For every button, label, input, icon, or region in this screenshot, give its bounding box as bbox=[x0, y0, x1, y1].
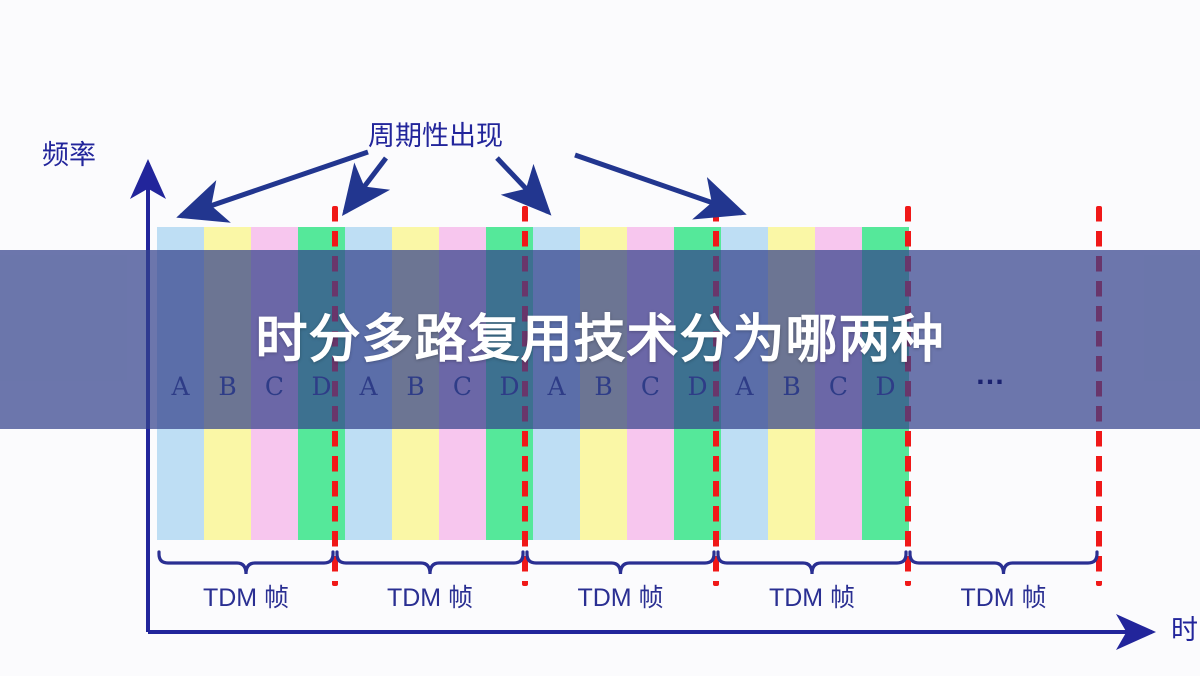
y-axis-label: 频率 bbox=[42, 133, 96, 172]
tdm-frame-label: TDM 帧 bbox=[526, 578, 715, 614]
tdm-frame-label: TDM 帧 bbox=[718, 578, 907, 614]
periodicity-annotation-label: 周期性出现 bbox=[368, 114, 503, 153]
tdm-diagram-screenshot: ABCDABCDABCDABCD TDM 帧TDM 帧TDM 帧TDM 帧TDM… bbox=[0, 0, 1200, 676]
tdm-frame-label: TDM 帧 bbox=[909, 578, 1098, 614]
continuation-ellipsis: … bbox=[975, 358, 1008, 392]
x-axis-label: 时 bbox=[1171, 608, 1198, 647]
overlay-title-text: 时分多路复用技术分为哪两种 bbox=[0, 297, 1200, 372]
tdm-frame-label: TDM 帧 bbox=[152, 578, 341, 614]
tdm-frame-label: TDM 帧 bbox=[336, 578, 525, 614]
